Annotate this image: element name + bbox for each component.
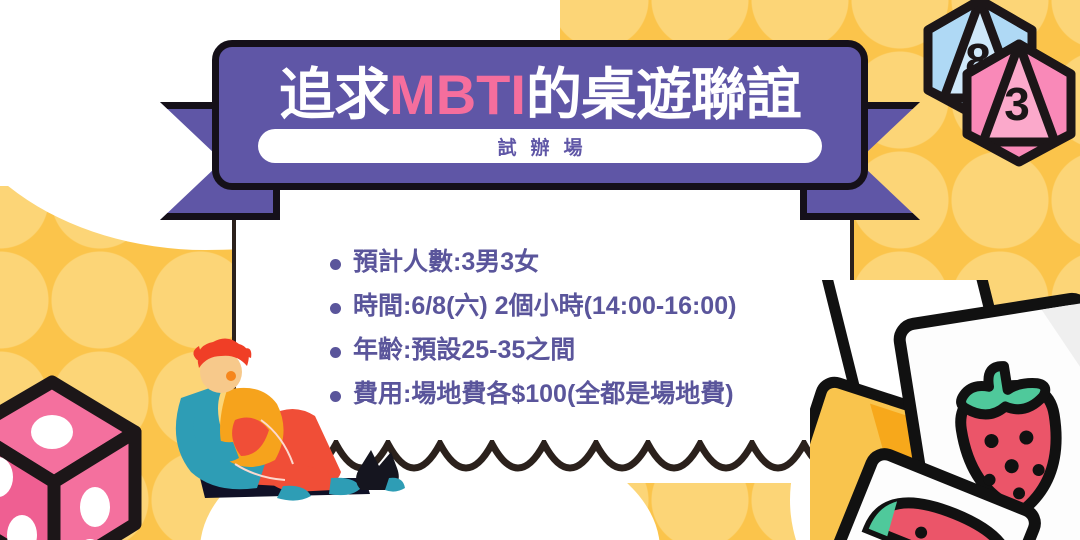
title-ribbon: 追求MBTI的桌遊聯誼 試辦場 bbox=[160, 40, 920, 200]
list-item-text: 預計人數:3男3女 bbox=[353, 250, 539, 275]
subtitle-pill: 試辦場 bbox=[258, 129, 823, 163]
bullet-dot-icon bbox=[330, 303, 341, 314]
bullet-dot-icon bbox=[330, 259, 341, 270]
dice-cube-icon bbox=[0, 352, 170, 540]
bullet-dot-icon bbox=[330, 391, 341, 402]
list-item: 時間:6/8(六) 2個小時(14:00-16:00) bbox=[330, 294, 850, 319]
title-accent: MBTI bbox=[389, 63, 526, 126]
title-prefix: 追求 bbox=[279, 63, 389, 126]
subtitle-text: 試辦場 bbox=[483, 133, 596, 160]
event-details-list: 預計人數:3男3女 時間:6/8(六) 2個小時(14:00-16:00) 年齡… bbox=[330, 250, 850, 426]
poster-canvas: 8 3 bbox=[0, 0, 1080, 540]
playing-cards-icon bbox=[810, 280, 1080, 540]
bullet-dot-icon bbox=[330, 347, 341, 358]
d20-dice-pink-icon: 3 bbox=[958, 38, 1080, 168]
list-item: 預計人數:3男3女 bbox=[330, 250, 850, 275]
list-item: 費用:場地費各$100(全都是場地費) bbox=[330, 382, 850, 407]
d20-pink-value: 3 bbox=[1004, 78, 1030, 130]
list-item-text: 年齡:預設25-35之間 bbox=[353, 338, 575, 363]
page-title: 追求MBTI的桌遊聯誼 bbox=[279, 67, 801, 123]
list-item: 年齡:預設25-35之間 bbox=[330, 338, 850, 363]
title-suffix: 的桌遊聯誼 bbox=[526, 63, 801, 126]
list-item-text: 時間:6/8(六) 2個小時(14:00-16:00) bbox=[353, 294, 736, 319]
ribbon-body: 追求MBTI的桌遊聯誼 試辦場 bbox=[212, 40, 868, 190]
list-item-text: 費用:場地費各$100(全都是場地費) bbox=[353, 382, 734, 407]
